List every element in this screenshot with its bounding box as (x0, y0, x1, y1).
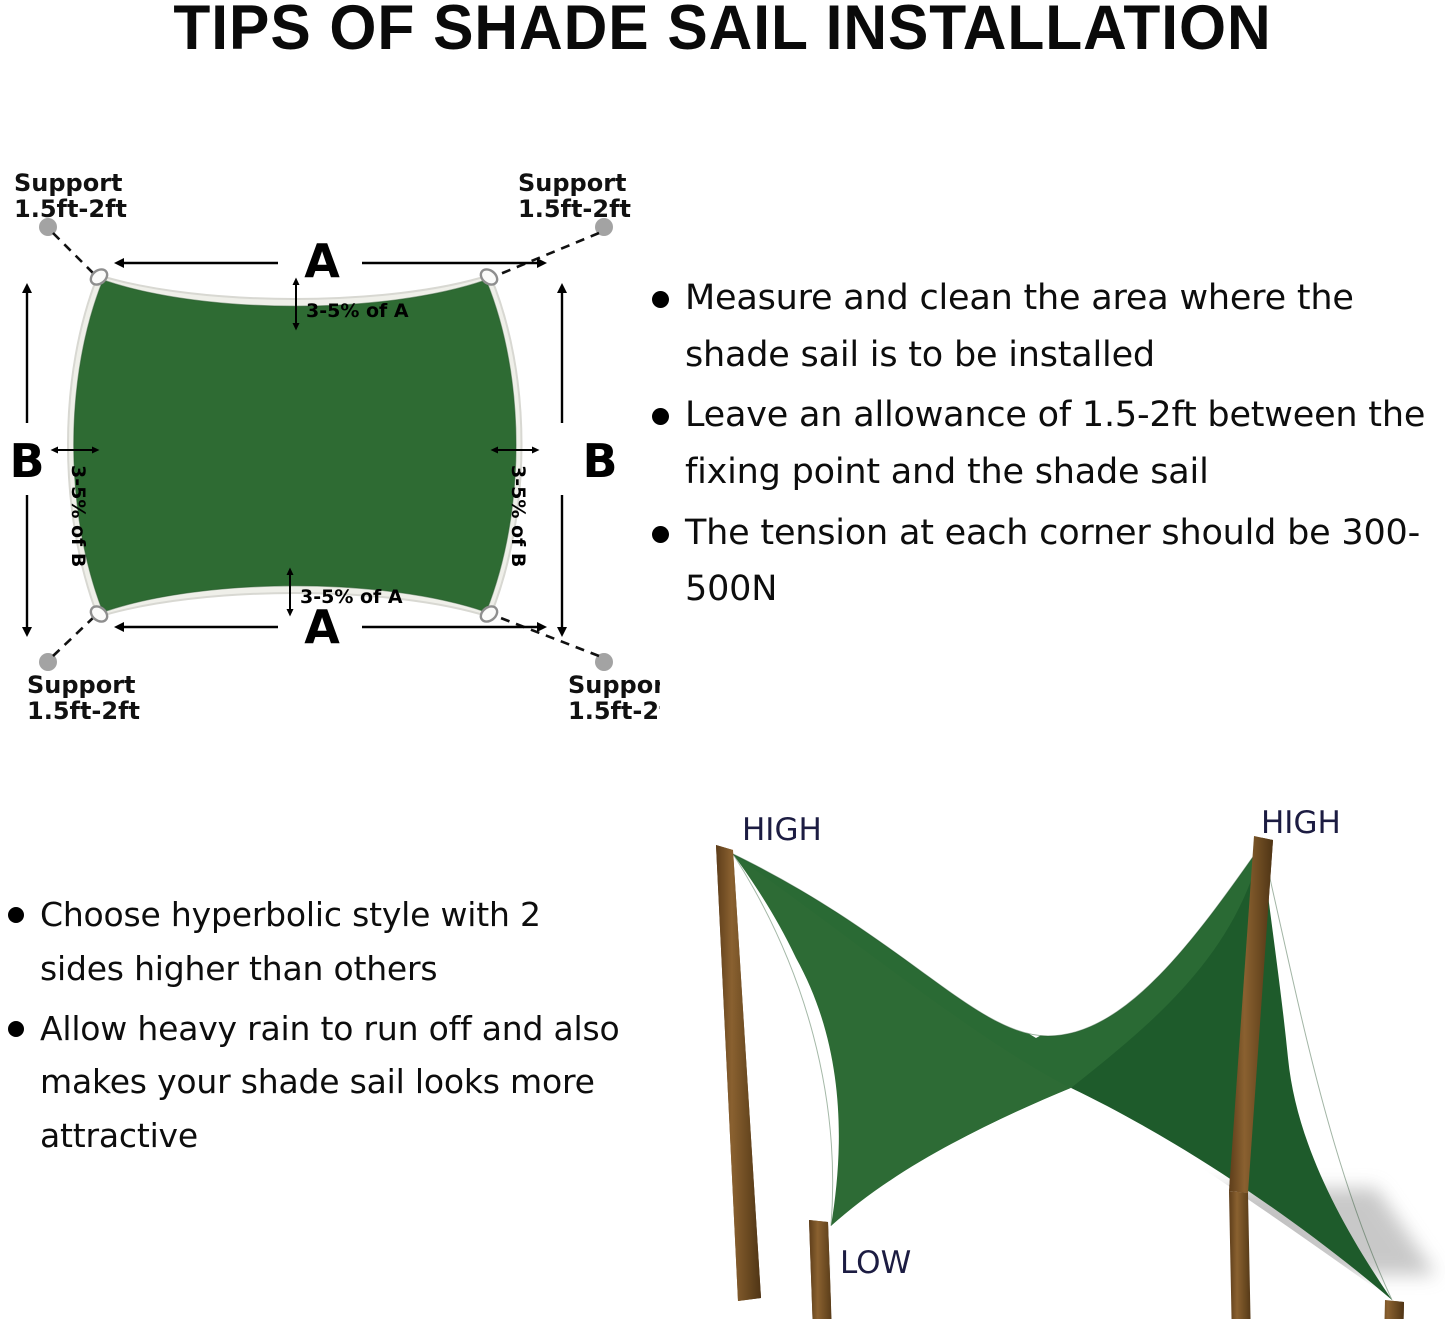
list-item: Leave an allowance of 1.5-2ft between th… (652, 387, 1445, 500)
label-curve-left: 3-5% of B (67, 465, 89, 567)
page-title: TIPS OF SHADE SAIL INSTALLATION (29, 0, 1416, 60)
support-label-bottom-right-line1: Support (568, 671, 660, 699)
tether-top-right (493, 233, 599, 277)
label-curve-right: 3-5% of B (507, 465, 529, 567)
label-curve-top: 3-5% of A (306, 300, 409, 322)
support-label-top-right-line2: 1.5ft-2ft (518, 195, 631, 223)
label-a-bottom: A (304, 600, 340, 654)
tether-top-left (53, 233, 95, 275)
bullet-dot-icon (652, 291, 669, 308)
tether-bottom-left (53, 616, 95, 656)
hyperbolic-sail-illustration: HIGH HIGH LOW LOW (676, 788, 1445, 1319)
tether-bottom-right (493, 615, 599, 656)
tip-text: Allow heavy rain to run off and also mak… (40, 1002, 628, 1163)
label-b-right: B (582, 434, 617, 488)
list-item: Allow heavy rain to run off and also mak… (8, 1002, 628, 1163)
bullet-dot-icon (652, 408, 669, 425)
label-low-left: LOW (840, 1245, 911, 1281)
support-label-top-left-line1: Support (14, 169, 123, 197)
list-item: Measure and clean the area where the sha… (652, 270, 1445, 383)
label-high-left: HIGH (742, 812, 822, 848)
list-item: The tension at each corner should be 300… (652, 505, 1445, 618)
bullet-dot-icon (8, 1021, 24, 1037)
support-label-bottom-left-line2: 1.5ft-2ft (27, 697, 140, 725)
tip-text: Choose hyperbolic style with 2 sides hig… (40, 888, 628, 996)
bullet-dot-icon (8, 907, 24, 923)
support-label-top-left-line2: 1.5ft-2ft (14, 195, 127, 223)
tips-list-right: Measure and clean the area where the sha… (652, 270, 1445, 622)
tip-text: The tension at each corner should be 300… (685, 505, 1445, 618)
tip-text: Measure and clean the area where the sha… (685, 270, 1445, 383)
label-high-right: HIGH (1261, 805, 1341, 841)
infographic-page: TIPS OF SHADE SAIL INSTALLATION (0, 0, 1445, 1319)
rect-sail-diagram: A 3-5% of A A 3-5% of A B 3-5% of B B (0, 165, 660, 725)
post-high-left-front (716, 845, 761, 1301)
support-label-top-right-line1: Support (518, 169, 627, 197)
support-label-bottom-right-line2: 1.5ft-2ft (568, 697, 660, 725)
bullet-dot-icon (652, 526, 669, 543)
list-item: Choose hyperbolic style with 2 sides hig… (8, 888, 628, 996)
tip-text: Leave an allowance of 1.5-2ft between th… (685, 387, 1445, 500)
tips-list-left: Choose hyperbolic style with 2 sides hig… (8, 888, 628, 1169)
support-label-bottom-left-line1: Support (27, 671, 136, 699)
post-low-left-front (809, 1220, 834, 1319)
label-curve-bottom: 3-5% of A (300, 586, 403, 608)
label-b-left: B (9, 434, 44, 488)
sail-body (74, 280, 516, 612)
label-a-top: A (304, 234, 340, 288)
